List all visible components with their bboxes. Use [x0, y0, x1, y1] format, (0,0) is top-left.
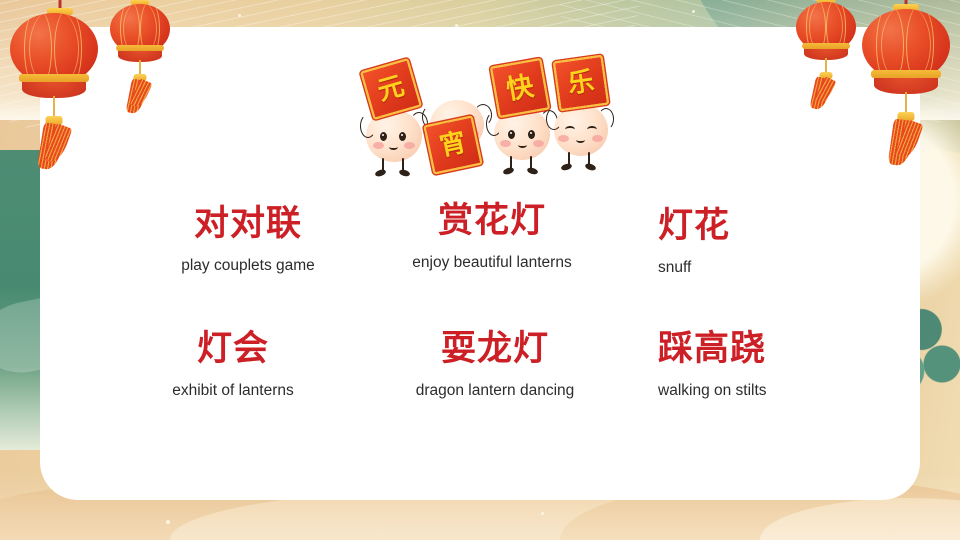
mascot-cheek [558, 135, 569, 142]
tangyuan-mascot-illustration: 元 宵 快 [358, 62, 614, 184]
activity-subtitle-en: enjoy beautiful lanterns [392, 254, 592, 272]
mascot-cheek [404, 142, 415, 149]
mascot-foot [584, 162, 596, 171]
mascot-eye [380, 132, 387, 141]
activity-title-cn: 踩高跷 [658, 330, 838, 369]
mascot-foot [502, 166, 514, 175]
background-speck [238, 14, 241, 17]
festival-activities-grid: 对对联 play couplets game 赏花灯 enjoy beautif… [100, 205, 860, 455]
mascot-cheek [592, 135, 603, 142]
mascot-foot [374, 168, 386, 177]
activity-subtitle-en: snuff [658, 259, 818, 277]
activity-title-cn: 灯花 [658, 207, 818, 246]
activity-subtitle-en: exhibit of lanterns [138, 382, 328, 400]
mascot-mouth [518, 142, 527, 148]
mascot-eye [399, 132, 406, 141]
mascot-mouth [576, 137, 585, 143]
activity-subtitle-en: play couplets game [148, 257, 348, 275]
mascot-foot [398, 169, 410, 178]
mascot-mouth [389, 144, 398, 150]
slide-canvas: 元 宵 快 [0, 0, 960, 540]
activity-title-cn: 耍龙灯 [395, 330, 595, 369]
lantern-cap-bottom [871, 70, 941, 78]
mascot-cheek [533, 140, 544, 147]
mascot-cheek [500, 140, 511, 147]
activity-subtitle-en: dragon lantern dancing [395, 382, 595, 400]
activity-item-2[interactable]: 赏花灯 enjoy beautiful lanterns [392, 202, 592, 272]
activities-row-2: 灯会 exhibit of lanterns 耍龙灯 dragon lanter… [100, 330, 860, 455]
activity-subtitle-en: walking on stilts [658, 382, 838, 400]
mascot-foot [526, 167, 538, 176]
activity-title-cn: 赏花灯 [392, 202, 592, 241]
activity-item-4[interactable]: 灯会 exhibit of lanterns [138, 330, 328, 400]
lantern-tassel-cord [905, 92, 907, 114]
activity-item-6[interactable]: 踩高跷 walking on stilts [658, 330, 838, 400]
mascot-eye [528, 130, 535, 139]
mascot-cheek [373, 142, 384, 149]
activity-title-cn: 灯会 [138, 330, 328, 369]
mascot-foot [560, 163, 572, 172]
mascot-eye [508, 130, 515, 139]
mascot-arm [546, 108, 562, 130]
lantern-tassel-cord [53, 96, 55, 118]
activity-title-cn: 对对联 [148, 205, 348, 244]
activity-item-1[interactable]: 对对联 play couplets game [148, 205, 348, 275]
background-speck [541, 512, 544, 515]
lantern-cap-bottom [19, 74, 89, 82]
placard-le: 乐 [553, 55, 609, 111]
activities-row-1: 对对联 play couplets game 赏花灯 enjoy beautif… [100, 205, 860, 330]
placard-xiao: 宵 [423, 115, 482, 174]
background-speck [166, 520, 170, 524]
mascot-arm [598, 108, 614, 130]
lantern-cap-bottom [116, 45, 164, 51]
placard-kuai: 快 [490, 58, 550, 118]
mascot-eye-closed [565, 126, 575, 133]
lantern-cap-bottom [802, 43, 850, 49]
mascot-eye-closed [587, 126, 597, 133]
background-speck [692, 10, 695, 13]
placard-yuan: 元 [360, 58, 422, 120]
activity-item-5[interactable]: 耍龙灯 dragon lantern dancing [395, 330, 595, 400]
activity-item-3[interactable]: 灯花 snuff [658, 207, 818, 277]
